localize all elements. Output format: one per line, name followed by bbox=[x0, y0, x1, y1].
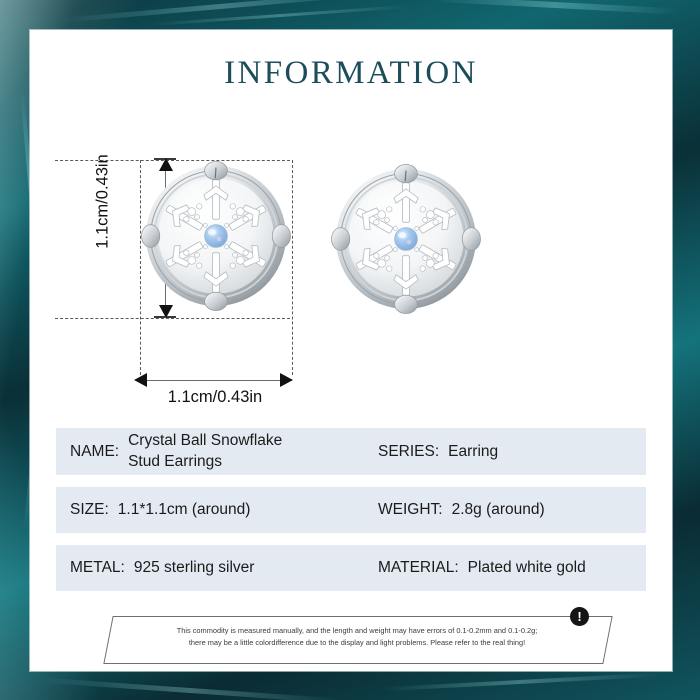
spec-value-name: Crystal Ball Snowflake Stud Earrings bbox=[128, 431, 318, 472]
vertical-dimension-label: 1.1cm/0.43in bbox=[94, 127, 113, 277]
spec-cell-metal: METAL: 925 sterling silver bbox=[70, 545, 254, 591]
spec-value-weight: 2.8g (around) bbox=[452, 501, 545, 519]
table-row: METAL: 925 sterling silver MATERIAL: Pla… bbox=[56, 545, 646, 591]
disclaimer-line-1: This commodity is measured manually, and… bbox=[142, 625, 572, 637]
spec-cell-series: SERIES: Earring bbox=[378, 428, 498, 475]
arrow-right-icon bbox=[280, 373, 293, 387]
spec-value-material: Plated white gold bbox=[468, 559, 586, 577]
spec-label-size: SIZE: bbox=[70, 501, 109, 519]
spec-cell-name: NAME: Crystal Ball Snowflake Stud Earrin… bbox=[70, 428, 318, 475]
product-dimension-diagram: 1.1cm/0.43in 1.1cm/0.43in bbox=[30, 130, 672, 420]
spec-value-metal: 925 sterling silver bbox=[134, 559, 255, 577]
snowflake-stud-earring-left bbox=[140, 160, 292, 312]
spec-label-name: NAME: bbox=[70, 443, 119, 461]
disclaimer-banner: This commodity is measured manually, and… bbox=[108, 616, 608, 664]
spec-cell-material: MATERIAL: Plated white gold bbox=[378, 545, 586, 591]
table-row: NAME: Crystal Ball Snowflake Stud Earrin… bbox=[56, 428, 646, 475]
spec-label-material: MATERIAL: bbox=[378, 559, 459, 577]
specification-table: NAME: Crystal Ball Snowflake Stud Earrin… bbox=[56, 428, 646, 603]
information-page: INFORMATION 1.1cm/0.43in 1.1cm/0.43in bbox=[0, 0, 700, 700]
spec-label-weight: WEIGHT: bbox=[378, 501, 443, 519]
white-content-panel: INFORMATION 1.1cm/0.43in 1.1cm/0.43in bbox=[30, 30, 672, 671]
spec-cell-size: SIZE: 1.1*1.1cm (around) bbox=[70, 487, 250, 533]
spec-label-series: SERIES: bbox=[378, 443, 439, 461]
spec-cell-weight: WEIGHT: 2.8g (around) bbox=[378, 487, 545, 533]
disclaimer-text: This commodity is measured manually, and… bbox=[142, 625, 572, 649]
page-title: INFORMATION bbox=[30, 55, 672, 92]
horizontal-dimension-line bbox=[140, 380, 292, 381]
table-row: SIZE: 1.1*1.1cm (around) WEIGHT: 2.8g (a… bbox=[56, 487, 646, 533]
spec-value-series: Earring bbox=[448, 443, 498, 461]
horizontal-dimension-label: 1.1cm/0.43in bbox=[90, 388, 340, 407]
disclaimer-line-2: there may be a little colordifference du… bbox=[142, 637, 572, 649]
snowflake-stud-earring-right bbox=[330, 163, 482, 315]
arrow-left-icon bbox=[134, 373, 147, 387]
exclamation-glyph: ! bbox=[577, 610, 581, 623]
spec-value-size: 1.1*1.1cm (around) bbox=[118, 501, 251, 519]
guide-line-right bbox=[292, 160, 293, 375]
exclamation-circle-icon: ! bbox=[570, 607, 589, 626]
spec-label-metal: METAL: bbox=[70, 559, 125, 577]
guide-line-bottom bbox=[55, 318, 290, 319]
